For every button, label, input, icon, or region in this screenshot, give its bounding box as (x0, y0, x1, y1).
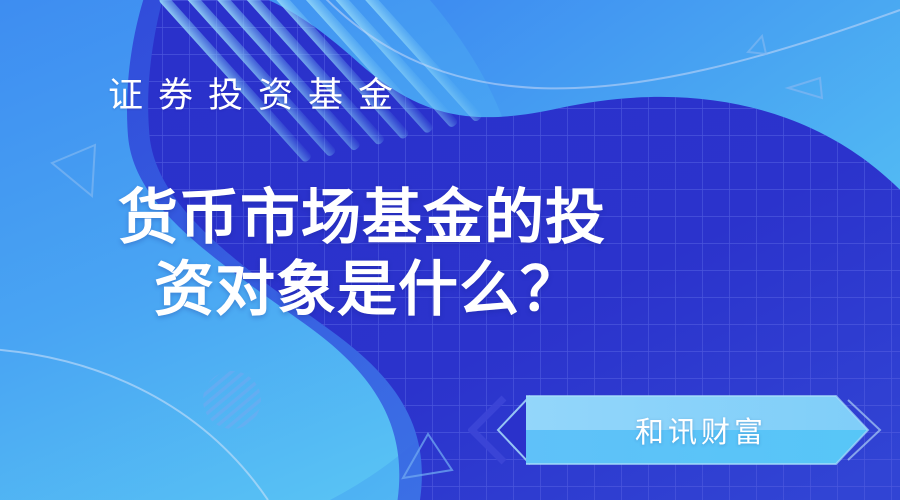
category-label: 证券投资基金 (108, 78, 408, 113)
brand-band-top (526, 396, 868, 430)
promo-banner: 和讯财富 证券投资基金 货币市场基金的投 资对象是什么？ (0, 0, 900, 500)
headline-line-1: 货币市场基金的投 (118, 182, 758, 254)
page-title: 货币市场基金的投 资对象是什么？ (118, 182, 758, 326)
headline-line-2: 资对象是什么？ (118, 254, 758, 326)
brand-banner-shape (468, 392, 888, 468)
brand-band-bottom (526, 430, 868, 464)
brand-banner: 和讯财富 (468, 392, 888, 468)
